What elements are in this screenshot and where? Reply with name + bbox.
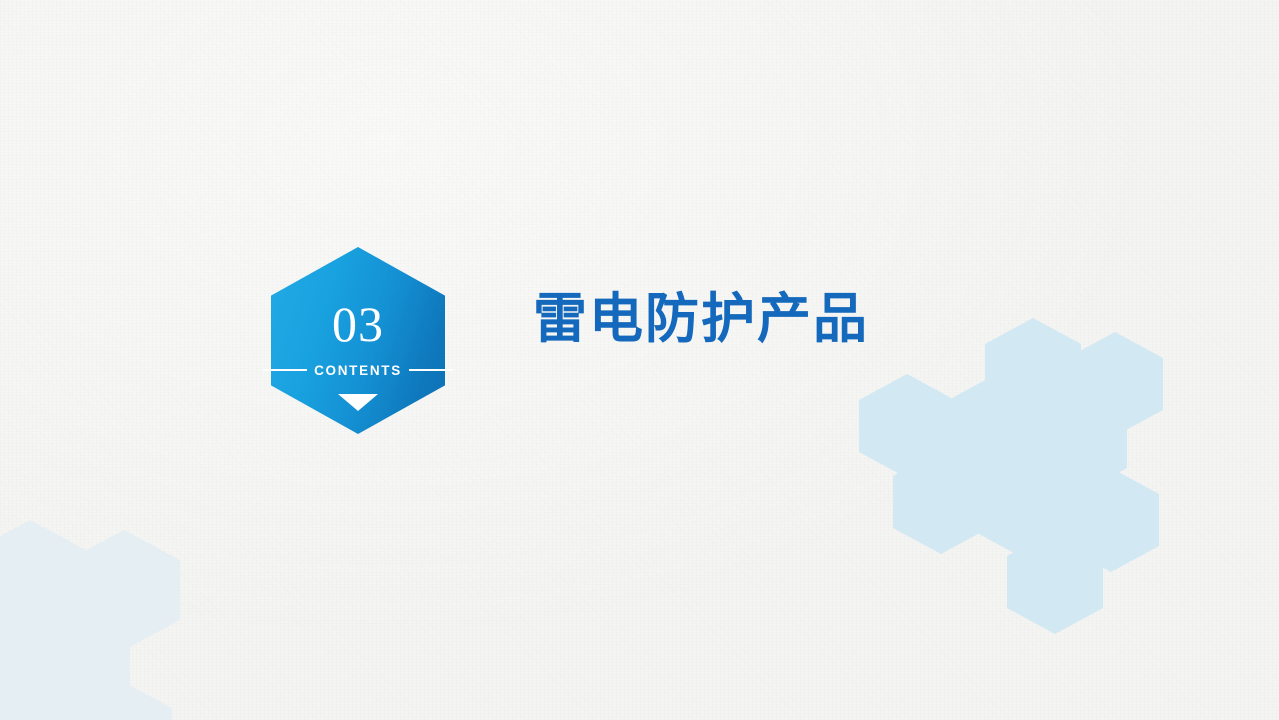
section-title: 雷电防护产品 <box>533 291 869 348</box>
honeycomb-decoration-bottom-left <box>0 520 240 720</box>
presentation-slide: 03 CONTENTS 雷电防护产品 <box>0 0 1279 720</box>
contents-label: CONTENTS <box>307 363 409 378</box>
contents-divider-row: CONTENTS <box>263 361 453 379</box>
section-number-badge: 03 CONTENTS <box>271 247 445 434</box>
divider-line-left <box>263 369 307 371</box>
section-number: 03 <box>271 299 445 349</box>
down-triangle-icon <box>338 394 378 411</box>
honeycomb-decoration-right <box>855 318 1215 668</box>
divider-line-right <box>409 369 453 371</box>
